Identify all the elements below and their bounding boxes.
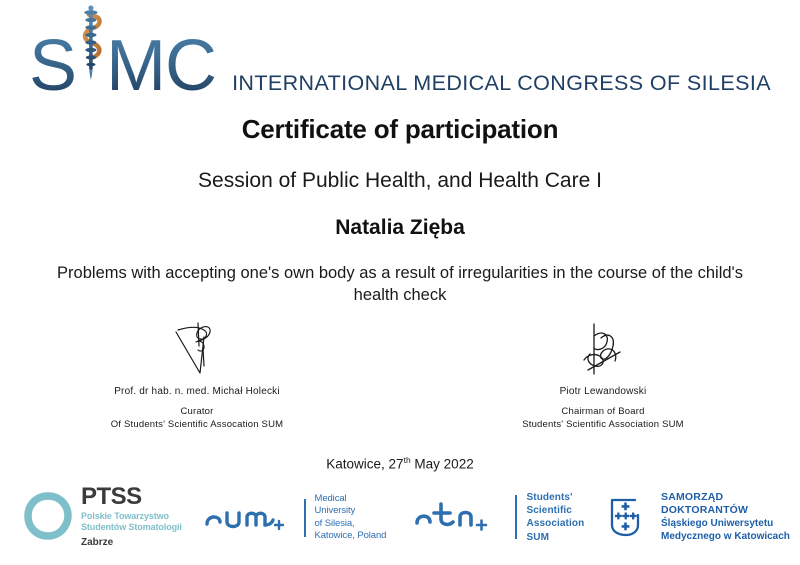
signature-row: Prof. dr hab. n. med. Michał Holecki Cur… <box>0 318 800 430</box>
ptss-acronym: PTSS <box>81 485 182 509</box>
simc-letters-mc: MC <box>106 30 216 102</box>
ptss-full-name: Polskie Towarzystwo Studentów Stomatolog… <box>81 511 182 534</box>
samorzad-name-line4: Medycznego w Katowicach <box>661 531 790 544</box>
stn-name-line3: Association <box>527 517 585 530</box>
signature-role-curator: Curator <box>72 406 322 417</box>
congress-name: INTERNATIONAL MEDICAL CONGRESS OF SILESI… <box>232 71 771 102</box>
logo-stn: Students' Scientific Association SUM <box>413 491 584 544</box>
simc-logo-lockup: S <box>29 18 771 102</box>
signature-block-chairman: Piotr Lewandowski Chairman of Board Stud… <box>478 318 728 430</box>
sum-name-line4: Katowice, Poland <box>315 530 387 542</box>
place-date-month-year: May 2022 <box>411 457 474 472</box>
participant-name: Natalia Zięba <box>0 216 800 240</box>
samorzad-name-block: SAMORZĄD DOKTORANTÓW Śląskiego Uniwersyt… <box>661 491 790 543</box>
simc-wordmark: S <box>29 18 216 102</box>
certificate-title: Certificate of participation <box>0 114 800 145</box>
stn-divider <box>515 495 517 539</box>
sum-name-line1: Medical <box>315 493 387 505</box>
stn-name-block: Students' Scientific Association SUM <box>527 491 585 544</box>
stn-name-line1: Students' <box>527 491 585 504</box>
signature-ink-chairman <box>478 318 728 380</box>
signature-name-chairman: Piotr Lewandowski <box>478 386 728 397</box>
sum-name-line2: University <box>315 505 387 517</box>
session-name: Session of Public Health, and Health Car… <box>0 169 800 193</box>
certificate-page: S <box>0 0 800 565</box>
footer-logo-bar: PTSS Polskie Towarzystwo Studentów Stoma… <box>0 485 800 547</box>
samorzad-name-line2: DOKTORANTÓW <box>661 504 790 517</box>
ptss-full-name-line1: Polskie Towarzystwo <box>81 511 182 522</box>
tooth-ring-icon <box>24 492 72 540</box>
simc-letter-s: S <box>29 30 76 102</box>
ptss-text-block: PTSS Polskie Towarzystwo Studentów Stoma… <box>81 485 182 548</box>
shield-cross-icon <box>605 494 651 540</box>
signature-block-curator: Prof. dr hab. n. med. Michał Holecki Cur… <box>72 318 322 430</box>
signature-role-chairman: Chairman of Board <box>478 406 728 417</box>
signature-ink-curator <box>72 318 322 380</box>
sum-name-line3: of Silesia, <box>315 518 387 530</box>
stn-name-line4: SUM <box>527 531 585 544</box>
sum-wordmark-icon <box>203 498 295 538</box>
samorzad-name-line3: Śląskiego Uniwersytetu <box>661 518 790 531</box>
sum-name-block: Medical University of Silesia, Katowice,… <box>315 493 387 542</box>
place-date-ordinal: th <box>404 455 411 465</box>
handwritten-signature-icon <box>568 318 638 380</box>
handwritten-signature-icon <box>160 318 234 380</box>
abstract-title: Problems with accepting one's own body a… <box>55 262 745 307</box>
place-date-city: Katowice, <box>326 457 388 472</box>
signature-org-curator: Of Students' Scientific Assocation SUM <box>72 419 322 430</box>
sum-divider <box>304 499 306 537</box>
ptss-city: Zabrze <box>81 537 182 548</box>
ptss-full-name-line2: Studentów Stomatologii <box>81 522 182 533</box>
place-and-date: Katowice, 27th May 2022 <box>0 455 800 472</box>
signature-name-curator: Prof. dr hab. n. med. Michał Holecki <box>72 386 322 397</box>
signature-org-chairman: Students' Scientific Association SUM <box>478 419 728 430</box>
logo-sum: Medical University of Silesia, Katowice,… <box>203 493 386 542</box>
stn-name-line2: Scientific <box>527 504 585 517</box>
samorzad-name-line1: SAMORZĄD <box>661 491 790 504</box>
logo-samorzad-doktorantow: SAMORZĄD DOKTORANTÓW Śląskiego Uniwersyt… <box>605 491 790 543</box>
certificate-header: S <box>0 0 800 92</box>
caduceus-icon <box>76 18 106 90</box>
place-date-day: 27 <box>389 457 404 472</box>
logo-ptss: PTSS Polskie Towarzystwo Studentów Stoma… <box>24 485 182 548</box>
stn-wordmark-icon <box>413 495 505 539</box>
caduceus-svg <box>77 4 105 96</box>
